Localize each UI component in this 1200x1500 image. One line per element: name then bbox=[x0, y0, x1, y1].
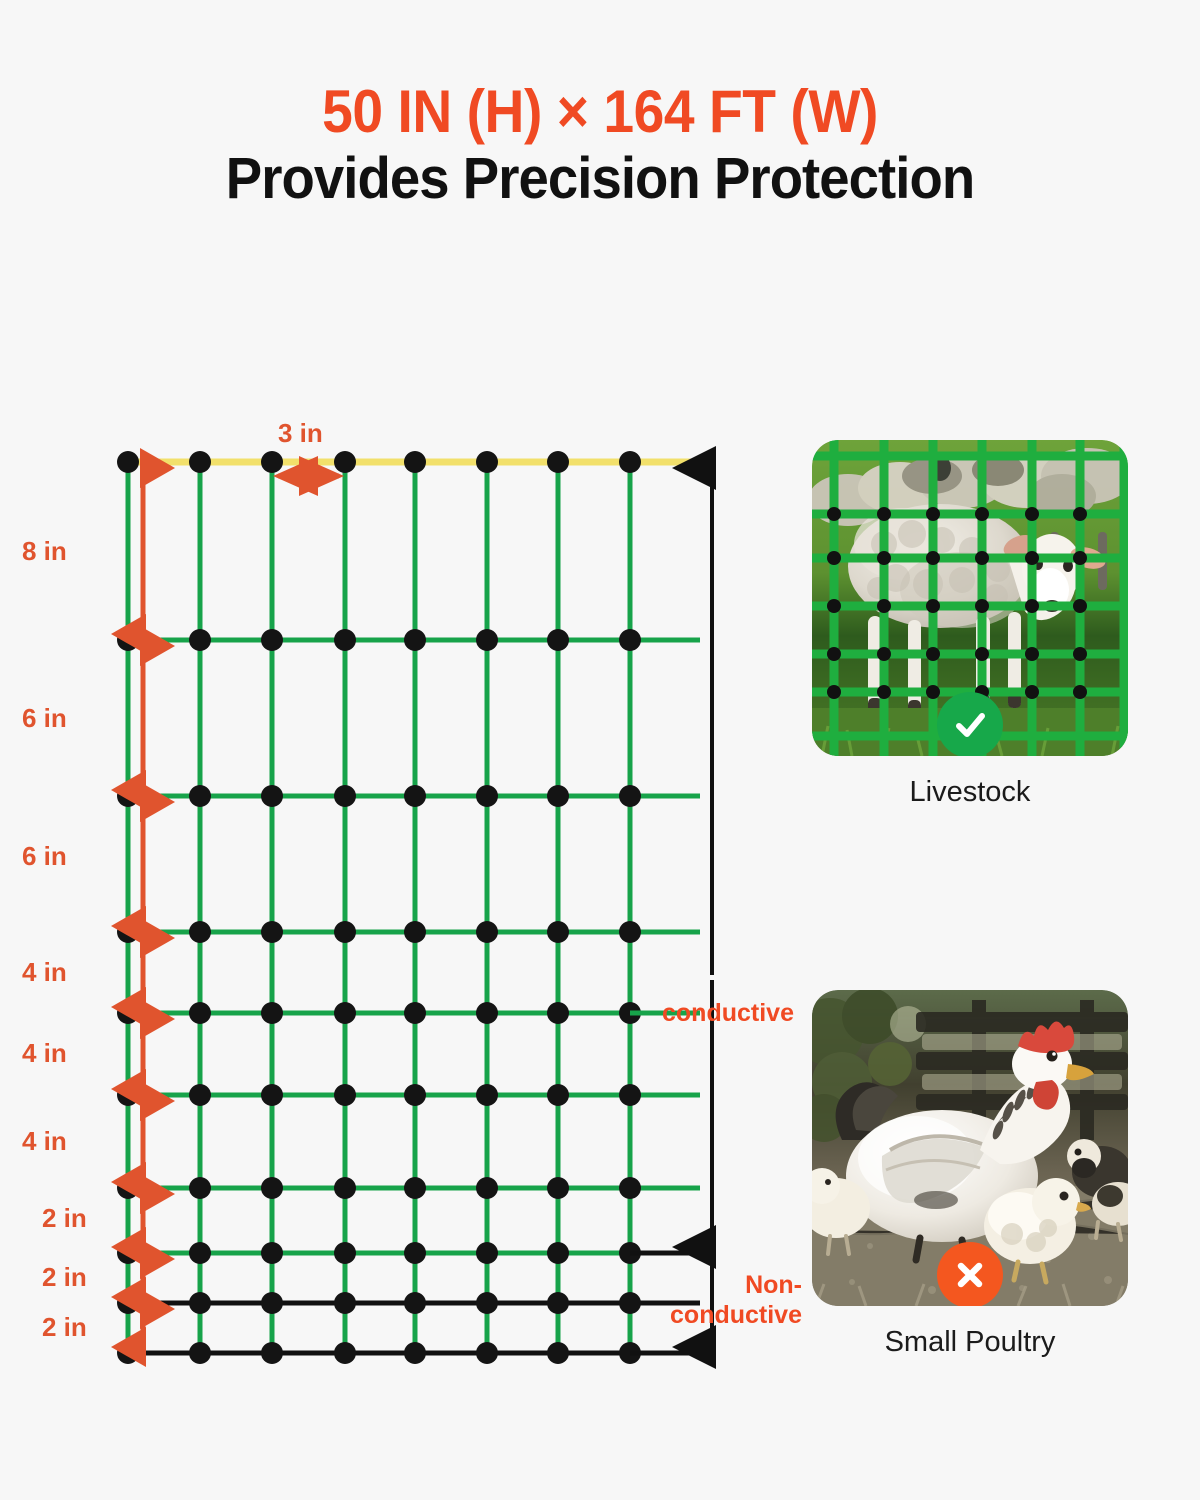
vertical-strands bbox=[128, 462, 630, 1353]
dim-label-2in-2: 2 in bbox=[42, 1262, 87, 1293]
label-non-conductive: Non- conductive bbox=[662, 1270, 802, 1330]
label-non-conductive-line2: conductive bbox=[662, 1300, 802, 1330]
mesh-spacing-diagram: 8 in 6 in 6 in 4 in 4 in 4 in 2 in 2 in … bbox=[0, 400, 760, 1400]
label-conductive: conductive bbox=[662, 998, 794, 1028]
mesh-grid-svg bbox=[0, 400, 760, 1400]
cross-icon bbox=[952, 1257, 988, 1293]
dim-label-6in-1: 6 in bbox=[22, 703, 67, 734]
dim-label-4in-1: 4 in bbox=[22, 957, 67, 988]
card-small-poultry: Small Poultry bbox=[812, 990, 1128, 1306]
dim-label-2in-1: 2 in bbox=[42, 1203, 87, 1234]
caption-livestock: Livestock bbox=[812, 776, 1128, 809]
poultry-photo bbox=[812, 990, 1128, 1306]
dim-label-4in-2: 4 in bbox=[22, 1038, 67, 1069]
mesh-knots bbox=[117, 451, 641, 1364]
card-livestock: Livestock bbox=[812, 440, 1128, 756]
headline-block: 50 IN (H) × 164 FT (W) Provides Precisio… bbox=[0, 78, 1200, 212]
livestock-photo bbox=[812, 440, 1128, 756]
check-icon bbox=[951, 706, 989, 744]
cross-badge bbox=[937, 1242, 1003, 1306]
headline-dimensions: 50 IN (H) × 164 FT (W) bbox=[48, 78, 1152, 146]
infographic-page: 50 IN (H) × 164 FT (W) Provides Precisio… bbox=[0, 0, 1200, 1500]
dim-label-3in: 3 in bbox=[278, 418, 323, 449]
check-badge bbox=[937, 692, 1003, 756]
dim-label-6in-2: 6 in bbox=[22, 841, 67, 872]
headline-tagline: Provides Precision Protection bbox=[36, 146, 1164, 212]
dim-label-8in-1: 8 in bbox=[22, 536, 67, 567]
dim-label-4in-3: 4 in bbox=[22, 1126, 67, 1157]
label-non-conductive-line1: Non- bbox=[662, 1270, 802, 1300]
dim-label-2in-3: 2 in bbox=[42, 1312, 87, 1343]
caption-small-poultry: Small Poultry bbox=[812, 1326, 1128, 1359]
